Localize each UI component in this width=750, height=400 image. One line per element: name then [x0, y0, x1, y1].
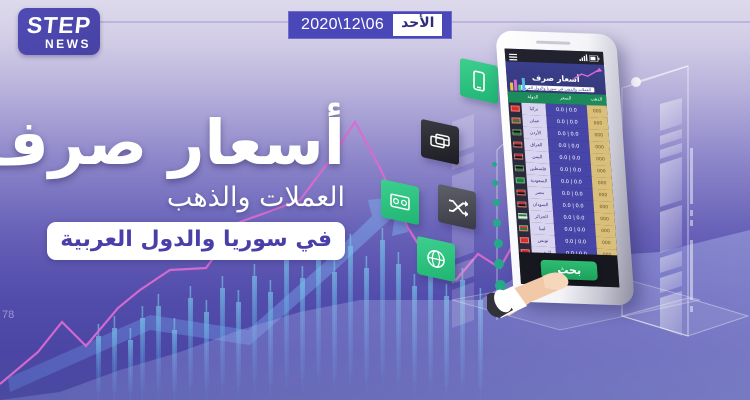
country-flag-icon: [509, 114, 523, 126]
banner-arrow-icon: [572, 67, 603, 82]
country-name: تركيا: [521, 103, 546, 116]
country-flag-icon: [513, 174, 527, 186]
phone-screen[interactable]: أسعار صرف العملات والذهب في سوريا والدول…: [505, 48, 620, 287]
gold-value: 000: [587, 117, 608, 130]
exchange-arrows-icon[interactable]: [438, 184, 476, 230]
date-text: 2020\12\06: [301, 16, 384, 34]
gold-value: 000: [590, 153, 611, 166]
gold-value: 000: [593, 201, 614, 214]
progress-dot-2: [492, 180, 498, 186]
country-flag-icon: [514, 186, 528, 198]
date-banner: 2020\12\06 الأحد: [288, 11, 452, 39]
gold-value: 000: [595, 225, 616, 238]
country-flag-icon: [508, 102, 522, 114]
signal-bars-icon: [579, 54, 588, 61]
gold-value: 000: [593, 189, 614, 202]
gold-value: 000: [589, 141, 610, 154]
mobile-phone-icon[interactable]: [460, 58, 498, 104]
weekday-badge: الأحد: [393, 14, 442, 36]
credit-cards-icon[interactable]: [421, 119, 459, 165]
country-name: عمان: [522, 115, 547, 128]
hand-illustration: [487, 258, 607, 320]
country-flag-icon: [511, 138, 525, 150]
chart-axis-label: 78: [2, 309, 14, 321]
progress-dot-4: [493, 219, 501, 227]
battery-icon: [589, 55, 599, 61]
infographic-banner: 78: [0, 0, 750, 400]
headline-block: أسعار صرف العملات والذهب في سوريا والدول…: [0, 112, 345, 260]
gold-value: 000: [594, 213, 615, 226]
country-flag-icon: [516, 210, 530, 222]
country-name: الأردن: [523, 127, 548, 140]
gold-value: 000: [592, 177, 613, 190]
banner-bars-icon: [508, 74, 531, 91]
country-flag-icon: [517, 222, 531, 234]
country-name: مصر: [527, 187, 552, 200]
country-name: فلسطين: [526, 163, 551, 176]
headline-secondary: العملات والذهب: [0, 184, 345, 211]
progress-dot-1: [492, 162, 497, 167]
gold-value: 000: [587, 105, 608, 118]
country-name: اليمن: [525, 151, 550, 164]
country-name: العراق: [524, 139, 549, 152]
col-rate: السعر: [545, 96, 587, 102]
country-flag-icon: [517, 234, 531, 246]
progress-dot-5: [494, 239, 503, 248]
country-name: تونس: [531, 234, 556, 247]
headline-primary: أسعار صرف: [0, 112, 345, 174]
app-banner: أسعار صرف العملات والذهب في سوريا والدول…: [505, 61, 606, 94]
country-flag-icon: [510, 126, 524, 138]
step-news-logo[interactable]: STEP NEWS: [18, 8, 100, 55]
headline-highlight: في سوريا والدول العربية: [47, 222, 345, 260]
col-country: الدولة: [521, 95, 545, 101]
country-name: ليبيا: [530, 222, 555, 235]
currency-table-body: تركيا0.0 | 0.0000عمان0.0 | 0.0000الأردن0…: [508, 102, 617, 261]
country-flag-icon: [512, 162, 526, 174]
col-gold: الذهب: [586, 97, 606, 103]
gold-value: 000: [596, 237, 617, 250]
country-flag-icon: [515, 198, 529, 210]
country-name: السعودية: [526, 175, 551, 188]
gold-value: 000: [588, 129, 609, 142]
logo-news-text: NEWS: [27, 38, 91, 50]
country-name: الجزائر: [529, 211, 554, 224]
gold-value: 000: [591, 165, 612, 178]
progress-dot-3: [493, 199, 500, 206]
logo-step-text: STEP: [26, 14, 92, 37]
globe-dollar-icon[interactable]: [417, 236, 455, 282]
country-name: السودان: [528, 199, 553, 212]
country-flag-icon: [512, 150, 526, 162]
money-bills-icon[interactable]: [381, 179, 419, 225]
